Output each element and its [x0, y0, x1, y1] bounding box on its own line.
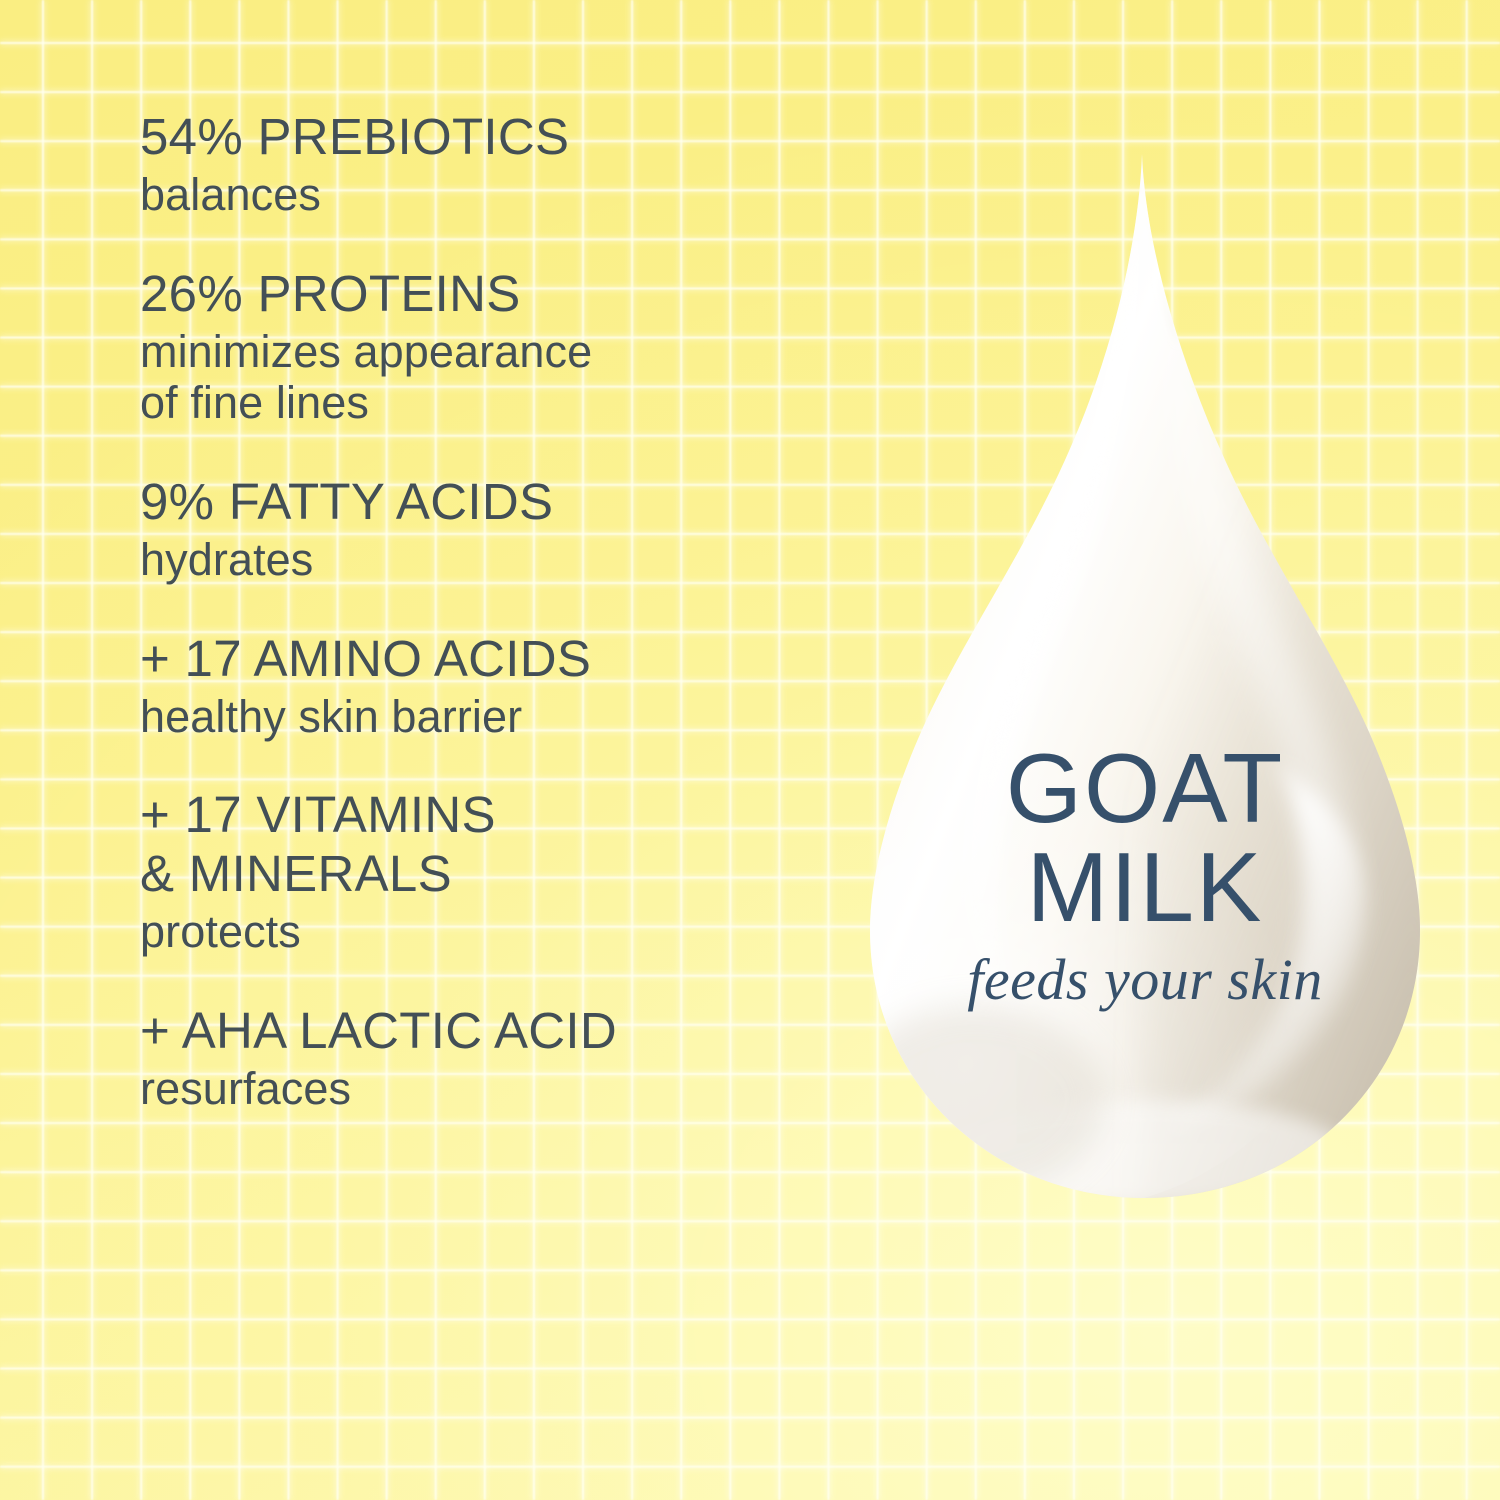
ingredient-item-amino-acids: + 17 AMINO ACIDS healthy skin barrier: [140, 630, 860, 743]
ingredient-benefit: resurfaces: [140, 1063, 860, 1115]
ingredient-headline: 26% PROTEINS: [140, 265, 860, 324]
ingredient-item-aha-lactic-acid: + AHA LACTIC ACID resurfaces: [140, 1002, 860, 1115]
ingredient-item-vitamins-minerals: + 17 VITAMINS & MINERALS protects: [140, 786, 860, 958]
infographic-canvas: 54% PREBIOTICS balances 26% PROTEINS min…: [0, 0, 1500, 1500]
ingredient-list: 54% PREBIOTICS balances 26% PROTEINS min…: [140, 108, 860, 1114]
ingredient-item-proteins: 26% PROTEINS minimizes appearance of fin…: [140, 265, 860, 429]
ingredient-headline: + AHA LACTIC ACID: [140, 1002, 860, 1061]
ingredient-headline: + 17 AMINO ACIDS: [140, 630, 860, 689]
ingredient-headline: + 17 VITAMINS & MINERALS: [140, 786, 860, 904]
ingredient-benefit: hydrates: [140, 534, 860, 586]
ingredient-benefit: protects: [140, 906, 860, 958]
droplet-shading: [845, 140, 1445, 1215]
ingredient-benefit: minimizes appearance of fine lines: [140, 326, 860, 430]
milk-droplet-illustration: GOAT MILK feeds your skin: [845, 140, 1445, 1215]
ingredient-item-prebiotics: 54% PREBIOTICS balances: [140, 108, 860, 221]
ingredient-item-fatty-acids: 9% FATTY ACIDS hydrates: [140, 473, 860, 586]
ingredient-benefit: healthy skin barrier: [140, 691, 860, 743]
ingredient-headline: 54% PREBIOTICS: [140, 108, 860, 167]
milk-droplet-icon: [845, 140, 1445, 1215]
ingredient-headline: 9% FATTY ACIDS: [140, 473, 860, 532]
ingredient-benefit: balances: [140, 169, 860, 221]
